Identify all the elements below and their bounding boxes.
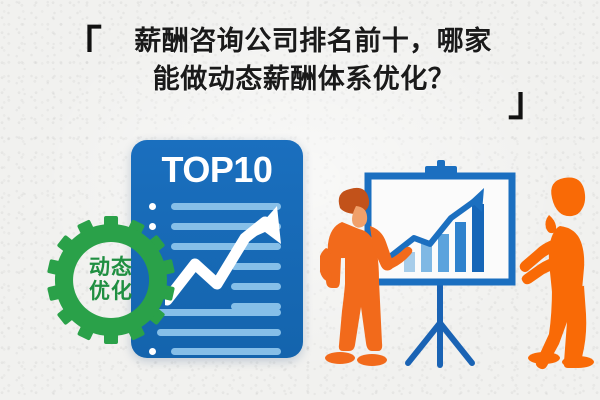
flipchart-tripod — [408, 280, 472, 365]
document-line — [157, 329, 281, 336]
bullet-dot-icon — [149, 203, 156, 210]
headline: 薪酬咨询公司排名前十，哪家 能做动态薪酬体系优化？ — [0, 22, 600, 98]
gear-icon — [47, 216, 175, 344]
listener-female-figure — [520, 177, 594, 369]
dynamic-optimization-gear-badge: 动态 优化 — [47, 216, 175, 344]
poster-canvas: 「 」 薪酬咨询公司排名前十，哪家 能做动态薪酬体系优化？ TOP10 — [0, 0, 600, 400]
bullet-dot-icon — [149, 348, 156, 355]
headline-line-1: 薪酬咨询公司排名前十，哪家 — [0, 22, 600, 60]
presentation-scene — [320, 160, 600, 375]
growth-arrow-icon — [165, 192, 297, 312]
document-line — [171, 348, 281, 355]
top10-title: TOP10 — [131, 149, 303, 191]
headline-line-2: 能做动态薪酬体系优化？ — [0, 60, 600, 98]
